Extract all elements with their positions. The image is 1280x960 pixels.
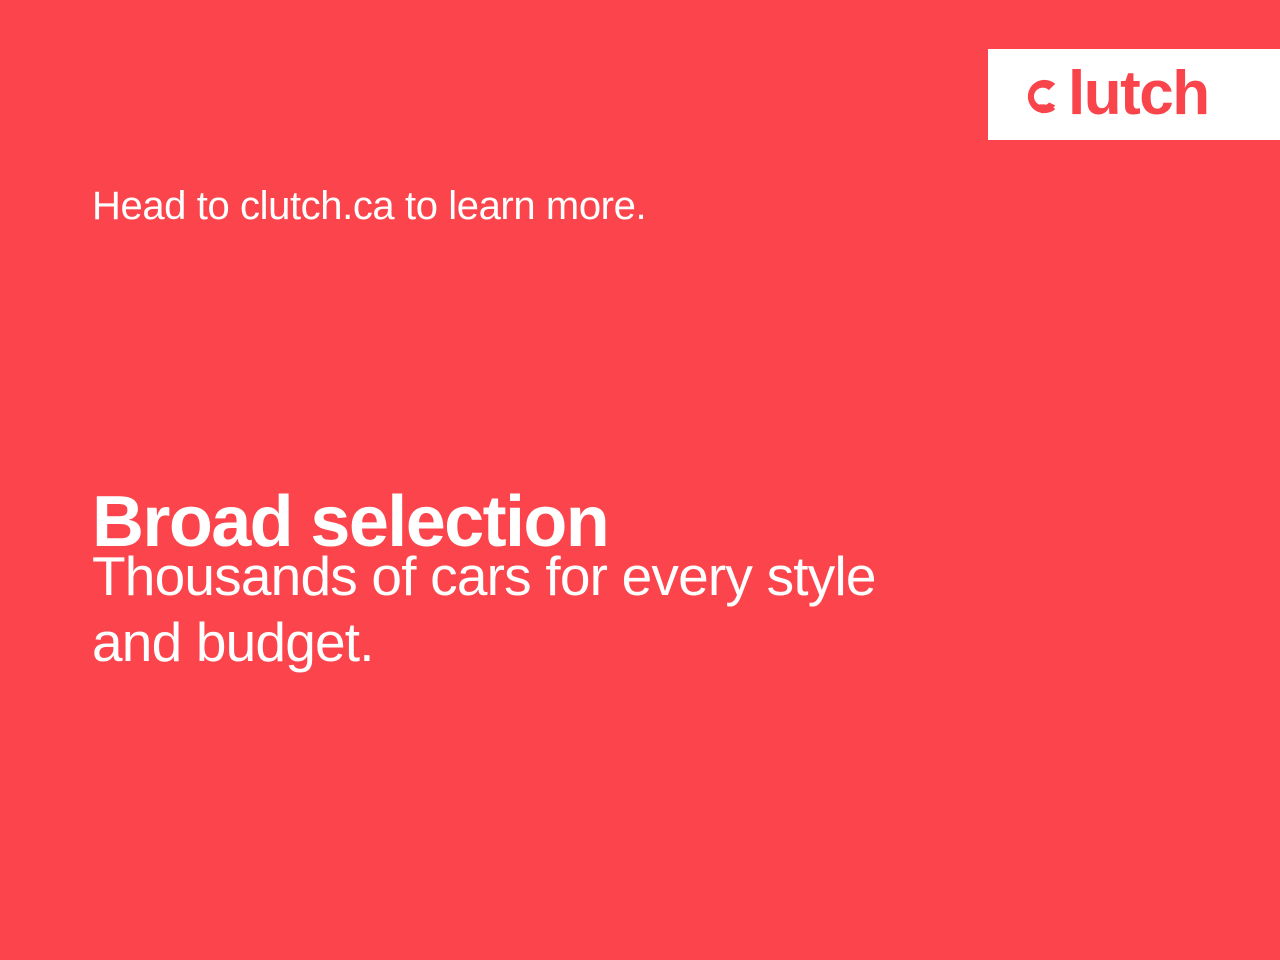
brand-logo-badge: lutch	[988, 49, 1280, 140]
subheadline-line-2: and budget.	[92, 609, 1052, 675]
eyebrow-text: Head to clutch.ca to learn more.	[92, 182, 646, 230]
promo-slide: lutch Head to clutch.ca to learn more. B…	[0, 0, 1280, 960]
brand-wordmark: lutch	[1068, 63, 1209, 125]
subheadline: Thousands of cars for every style and bu…	[92, 543, 1052, 675]
brand-logo-lockup: lutch	[1018, 65, 1209, 125]
clutch-c-mark-icon	[1018, 72, 1067, 121]
subheadline-line-1: Thousands of cars for every style	[92, 543, 1052, 609]
